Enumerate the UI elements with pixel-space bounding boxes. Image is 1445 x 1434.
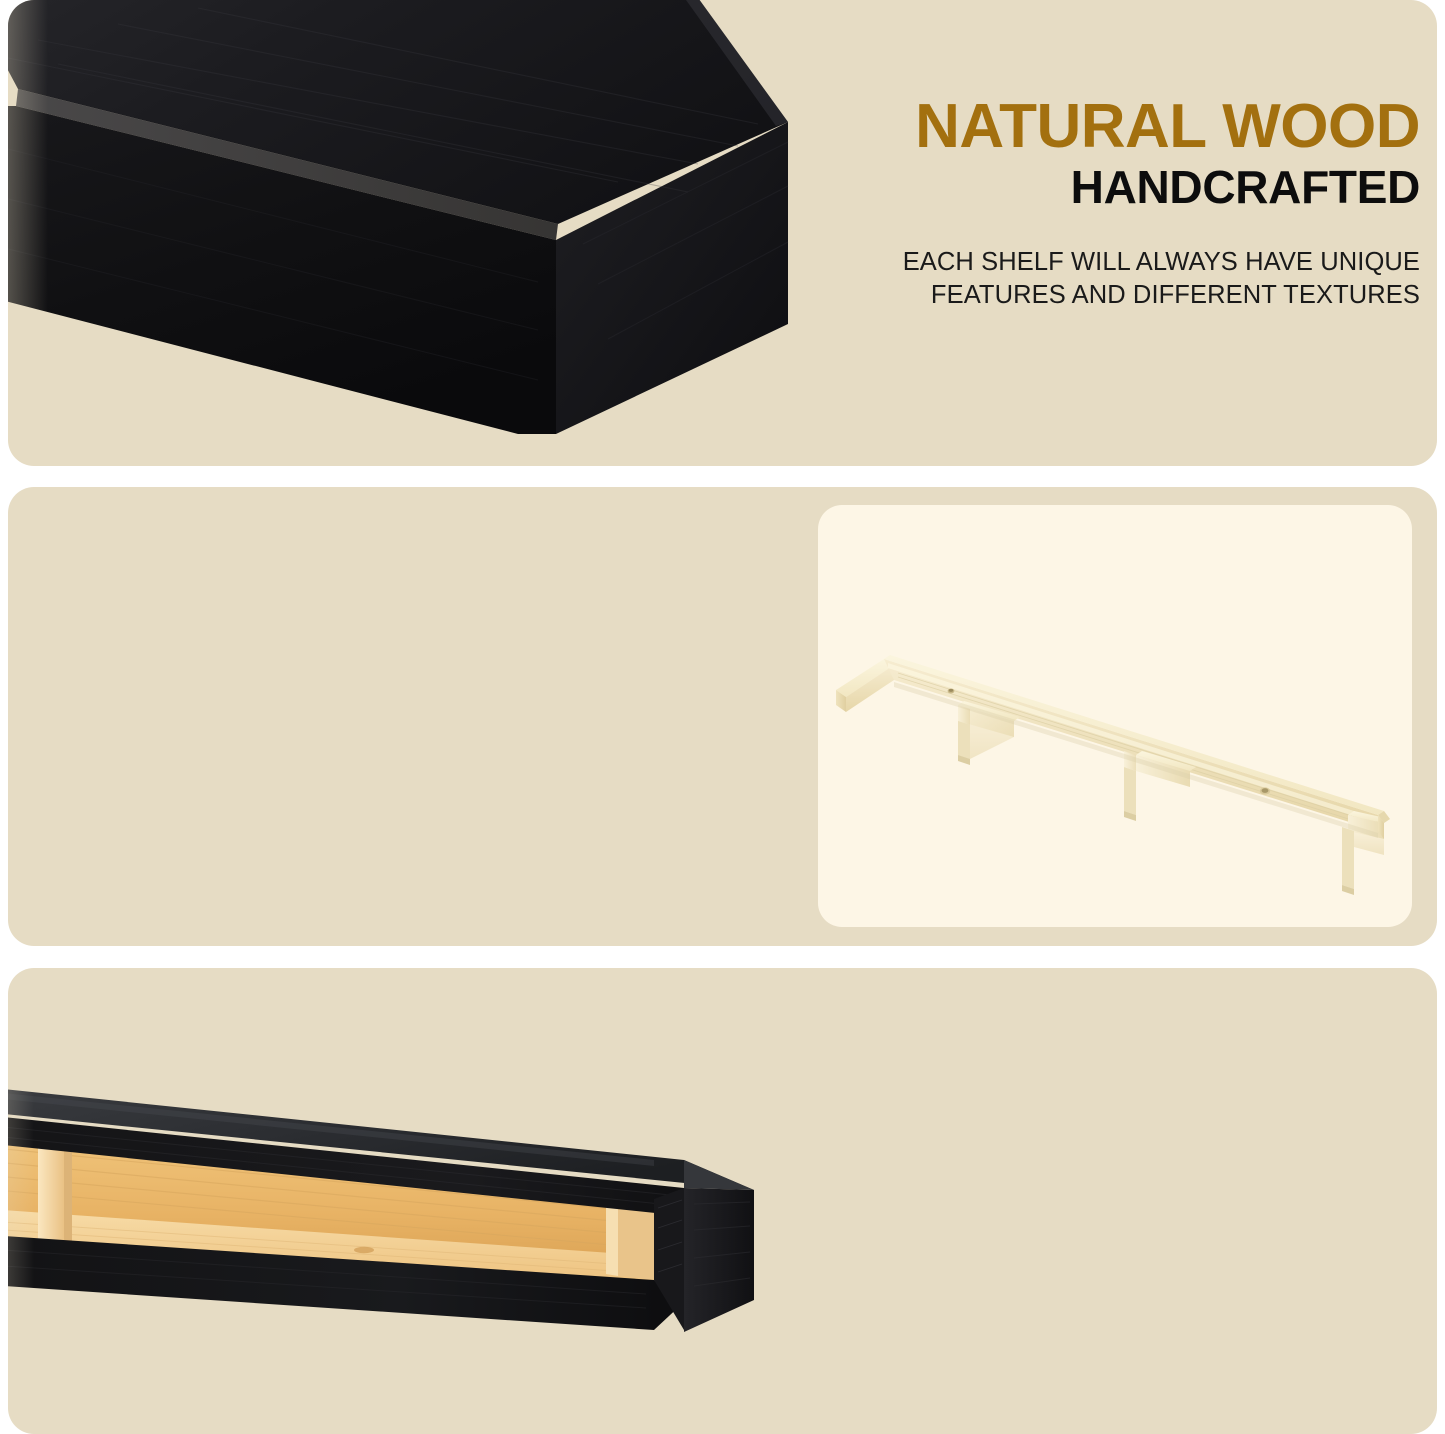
product-infographic: NATURAL WOOD HANDCRAFTED EACH SHELF WILL… [0,0,1445,1434]
wooden-multi-arm-wall-bracket-image [818,505,1412,927]
panel-1-body-line: FEATURES AND DIFFERENT TEXTURES [800,279,1420,312]
panel-1-text-block: NATURAL WOOD HANDCRAFTED EACH SHELF WILL… [800,96,1420,312]
panel-multi-point-support: MULTI-POINT SUPPORT DESIGN EVENLY DISTRI… [8,487,1437,946]
panel-1-title-secondary: HANDCRAFTED [800,164,1420,210]
black-wood-shelf-block-image [8,0,808,464]
panel-1-body: EACH SHELF WILL ALWAYS HAVE UNIQUE FEATU… [800,246,1420,312]
bracket-image-inset [818,505,1412,927]
panel-1-title-primary: NATURAL WOOD [800,96,1420,158]
hollow-black-shelf-with-pine-interior-image [8,1068,814,1398]
panel-natural-wood: NATURAL WOOD HANDCRAFTED EACH SHELF WILL… [8,0,1437,466]
panel-1-body-line: EACH SHELF WILL ALWAYS HAVE UNIQUE [800,246,1420,279]
panel-stable-hidden-support: STABLE HIDDEN SUPPORT SEGMENTED INTERNAL… [8,968,1437,1434]
